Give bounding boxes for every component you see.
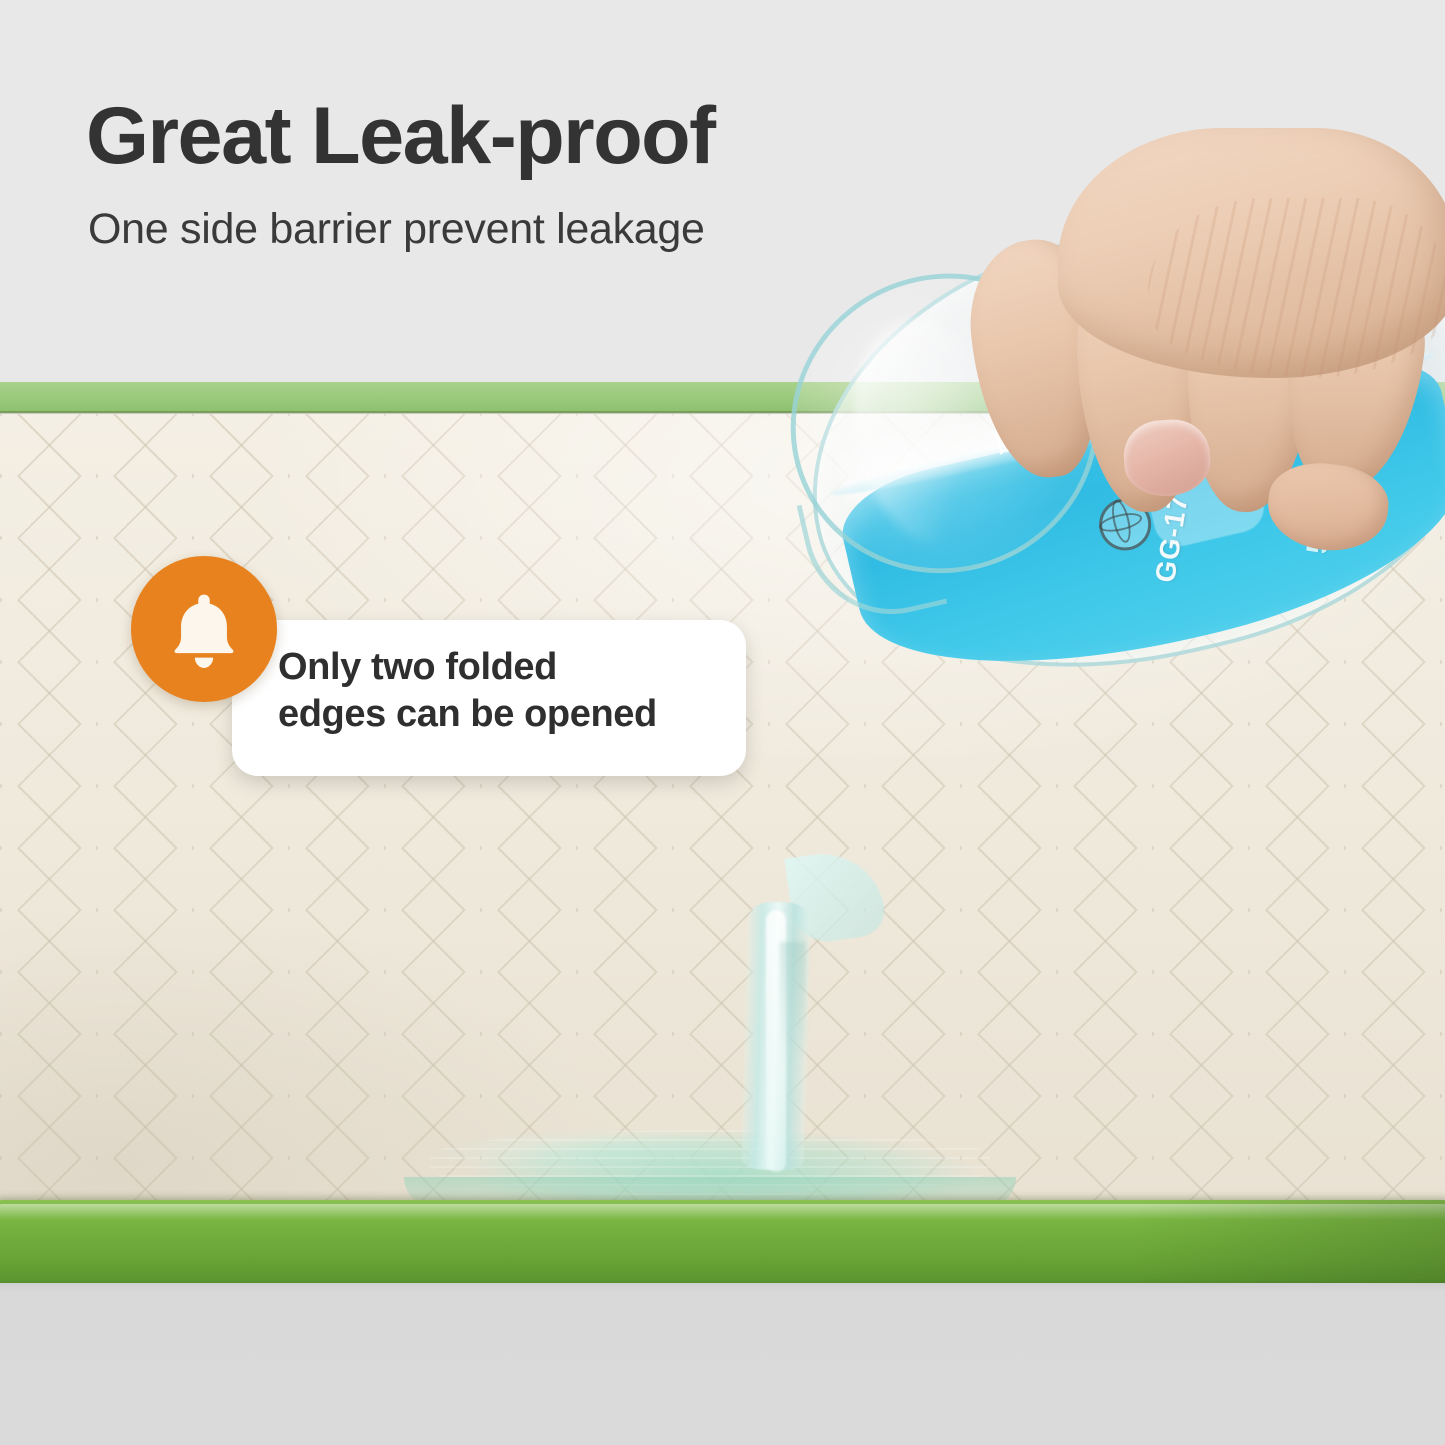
- hand-skin-creases: [1148, 198, 1445, 378]
- callout-text-line-2: edges can be opened: [278, 691, 728, 738]
- background-bottom: [0, 1283, 1445, 1445]
- callout-badge: [131, 556, 277, 702]
- headline: Great Leak-proof: [86, 96, 715, 177]
- product-feature-image: Great Leak-proof One side barrier preven…: [0, 0, 1445, 1445]
- callout-text: Only two folded edges can be opened: [278, 644, 728, 738]
- callout-text-line-1: Only two folded: [278, 644, 728, 691]
- bell-icon: [167, 590, 241, 668]
- subheadline: One side barrier prevent leakage: [88, 208, 705, 251]
- leak-proof-barrier: [0, 1200, 1445, 1283]
- hand: [938, 128, 1445, 548]
- water-stream-tint: [780, 942, 806, 1062]
- fingernail: [1121, 417, 1212, 499]
- barrier-shading: [1131, 1200, 1445, 1283]
